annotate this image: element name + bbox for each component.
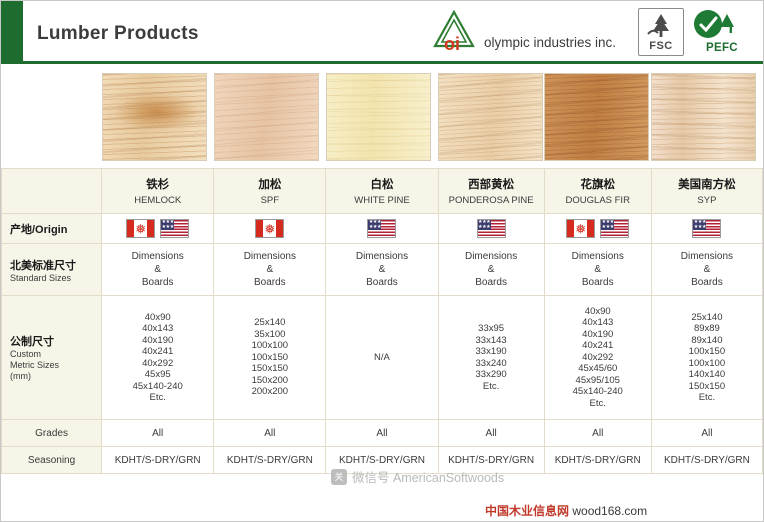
- species-name-en: SPF: [214, 195, 325, 206]
- spf-photo: [214, 73, 319, 161]
- origin-ponderosa-pine: ★★★★★★: [438, 214, 544, 244]
- species-photo-strip: [1, 65, 763, 168]
- species-header-spf: 加松 SPF: [214, 169, 326, 214]
- species-name-cn: 花旗松: [545, 176, 651, 192]
- standard-sizes-spf: Dimensions & Boards: [214, 244, 326, 296]
- species-name-cn: 铁杉: [102, 176, 213, 192]
- metric-sizes-hemlock: 40x90 40x143 40x190 40x241 40x292 45x95 …: [102, 296, 214, 420]
- usa-flag-icon: ★★★★★★: [600, 219, 629, 238]
- origin-spf: ❅: [214, 214, 326, 244]
- grades-syp: All: [651, 420, 762, 447]
- grades-white-pine: All: [326, 420, 438, 447]
- canada-flag-icon: ❅: [126, 219, 155, 238]
- standard-sizes-hemlock: Dimensions & Boards: [102, 244, 214, 296]
- origin-douglas-fir: ❅ ★★★★★★: [544, 214, 651, 244]
- table-row-standard-sizes: 北美标准尺寸 Standard Sizes Dimensions & Board…: [2, 244, 763, 296]
- species-name-en: HEMLOCK: [102, 195, 213, 206]
- standard-sizes-white-pine: Dimensions & Boards: [326, 244, 438, 296]
- table-corner-cell: [2, 169, 102, 214]
- canada-flag-icon: ❅: [255, 219, 284, 238]
- species-name-cn: 加松: [214, 176, 325, 192]
- row-label-grades: Grades: [2, 420, 102, 447]
- species-header-douglas-fir: 花旗松 DOUGLAS FIR: [544, 169, 651, 214]
- standard-sizes-ponderosa-pine: Dimensions & Boards: [438, 244, 544, 296]
- ponderosa-pine-photo: [438, 73, 543, 161]
- row-label-cn: 北美标准尺寸: [10, 257, 101, 273]
- seasoning-white-pine: KDHT/S-DRY/GRN: [326, 447, 438, 474]
- species-name-en: PONDEROSA PINE: [439, 195, 544, 206]
- pefc-logo: PEFC: [689, 8, 747, 56]
- usa-flag-icon: ★★★★★★: [160, 219, 189, 238]
- grades-ponderosa-pine: All: [438, 420, 544, 447]
- metric-sizes-douglas-fir: 40x90 40x143 40x190 40x241 40x292 45x45/…: [544, 296, 651, 420]
- row-label-seasoning: Seasoning: [2, 447, 102, 474]
- table-row-grades: Grades All All All All All All: [2, 420, 763, 447]
- hemlock-photo: [102, 73, 207, 161]
- species-name-en: SYP: [652, 195, 762, 206]
- site-watermark-url: wood168.com: [572, 504, 647, 518]
- seasoning-douglas-fir: KDHT/S-DRY/GRN: [544, 447, 651, 474]
- slide-page: Lumber Products o i olympic industries i…: [0, 0, 764, 522]
- species-name-cn: 白松: [326, 176, 437, 192]
- grades-hemlock: All: [102, 420, 214, 447]
- metric-sizes-spf: 25x140 35x100 100x100 100x150 150x150 15…: [214, 296, 326, 420]
- fsc-logo: FSC: [638, 8, 684, 56]
- grades-spf: All: [214, 420, 326, 447]
- fsc-label: FSC: [639, 40, 683, 52]
- table-row-seasoning: Seasoning KDHT/S-DRY/GRN KDHT/S-DRY/GRN …: [2, 447, 763, 474]
- origin-white-pine: ★★★★★★: [326, 214, 438, 244]
- origin-syp: ★★★★★★: [651, 214, 762, 244]
- standard-sizes-douglas-fir: Dimensions & Boards: [544, 244, 651, 296]
- metric-sizes-white-pine: N/A: [326, 296, 438, 420]
- table-row-origin: 产地/Origin ❅ ★★★★★★ ❅ ★★★★★★: [2, 214, 763, 244]
- svg-text:i: i: [455, 34, 460, 54]
- row-label-cn: 产地/Origin: [10, 221, 101, 237]
- origin-hemlock: ❅ ★★★★★★: [102, 214, 214, 244]
- site-watermark: 中国木业信息网 wood168.com: [485, 502, 647, 519]
- pefc-label: PEFC: [706, 42, 738, 54]
- lumber-spec-table: 铁杉 HEMLOCK 加松 SPF 白松 WHITE PINE 西部黄松 PON…: [1, 168, 763, 474]
- species-header-white-pine: 白松 WHITE PINE: [326, 169, 438, 214]
- slide-header: Lumber Products o i olympic industries i…: [1, 1, 763, 63]
- company-name: olympic industries inc.: [484, 35, 616, 50]
- species-header-hemlock: 铁杉 HEMLOCK: [102, 169, 214, 214]
- svg-text:o: o: [444, 34, 455, 54]
- species-name-en: DOUGLAS FIR: [545, 195, 651, 206]
- grades-douglas-fir: All: [544, 420, 651, 447]
- seasoning-hemlock: KDHT/S-DRY/GRN: [102, 447, 214, 474]
- canada-flag-icon: ❅: [566, 219, 595, 238]
- site-watermark-cn: 中国木业信息网: [485, 504, 569, 518]
- douglas-fir-photo: [544, 73, 649, 161]
- metric-sizes-syp: 25x140 89x89 89x140 100x150 100x100 140x…: [651, 296, 762, 420]
- species-name-cn: 西部黄松: [439, 176, 544, 192]
- olympic-industries-logo-icon: o i: [431, 9, 477, 55]
- seasoning-ponderosa-pine: KDHT/S-DRY/GRN: [438, 447, 544, 474]
- metric-sizes-ponderosa-pine: 33x95 33x143 33x190 33x240 33x290 Etc.: [438, 296, 544, 420]
- species-header-syp: 美国南方松 SYP: [651, 169, 762, 214]
- usa-flag-icon: ★★★★★★: [692, 219, 721, 238]
- species-header-ponderosa-pine: 西部黄松 PONDEROSA PINE: [438, 169, 544, 214]
- standard-sizes-syp: Dimensions & Boards: [651, 244, 762, 296]
- row-label-cn: 公制尺寸: [10, 333, 101, 349]
- header-divider: [1, 61, 763, 64]
- row-label-en: Custom Metric Sizes (mm): [10, 349, 101, 382]
- white-pine-photo: [326, 73, 431, 161]
- table-header-row: 铁杉 HEMLOCK 加松 SPF 白松 WHITE PINE 西部黄松 PON…: [2, 169, 763, 214]
- usa-flag-icon: ★★★★★★: [477, 219, 506, 238]
- table-row-metric-sizes: 公制尺寸 Custom Metric Sizes (mm) 40x90 40x1…: [2, 296, 763, 420]
- row-label-en: Standard Sizes: [10, 273, 101, 283]
- row-label-metric-sizes: 公制尺寸 Custom Metric Sizes (mm): [2, 296, 102, 420]
- row-label-standard-sizes: 北美标准尺寸 Standard Sizes: [2, 244, 102, 296]
- species-name-en: WHITE PINE: [326, 195, 437, 206]
- seasoning-syp: KDHT/S-DRY/GRN: [651, 447, 762, 474]
- usa-flag-icon: ★★★★★★: [367, 219, 396, 238]
- syp-photo: [651, 73, 756, 161]
- page-title: Lumber Products: [37, 23, 199, 45]
- species-name-cn: 美国南方松: [652, 176, 762, 192]
- seasoning-spf: KDHT/S-DRY/GRN: [214, 447, 326, 474]
- row-label-origin: 产地/Origin: [2, 214, 102, 244]
- header-accent-bar: [1, 1, 23, 63]
